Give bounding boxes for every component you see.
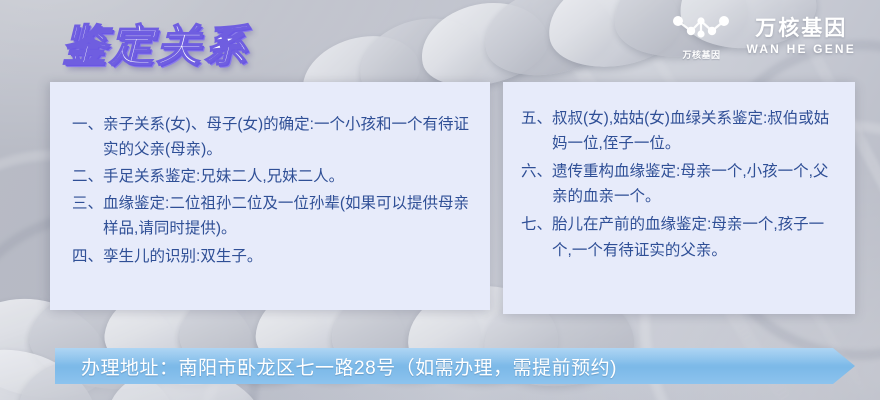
brand-name-block: 万核基因 WAN HE GENE xyxy=(746,18,856,56)
info-panel-left: 一、亲子关系(女)、母子(女)的确定:一个小孩和一个有待证实的父亲(母亲)。二、… xyxy=(50,82,490,310)
brand-name-en: WAN HE GENE xyxy=(746,43,856,56)
list-item-number: 六、 xyxy=(521,159,552,184)
list-item: 七、胎儿在产前的血缘鉴定:母亲一个,孩子一个,一个有待证实的父亲。 xyxy=(521,212,841,262)
list-item-text: 叔叔(女),姑姑(女)血绿关系鉴定:叔伯或姑妈一位,侄子一位。 xyxy=(552,106,841,156)
list-item: 一、亲子关系(女)、母子(女)的确定:一个小孩和一个有待证实的父亲(母亲)。 xyxy=(72,112,474,162)
list-item-number: 四、 xyxy=(72,244,103,269)
brand-logo: 万核基因 万核基因 WAN HE GENE xyxy=(670,12,856,61)
info-panel-right: 五、叔叔(女),姑姑(女)血绿关系鉴定:叔伯或姑妈一位,侄子一位。六、遗传重构血… xyxy=(503,82,855,314)
list-item: 三、血缘鉴定:二位祖孙二位及一位孙辈(如果可以提供母亲样品,请同时提供)。 xyxy=(72,191,474,241)
list-item-text: 遗传重构血缘鉴定:母亲一个,小孩一个,父亲的血亲一个。 xyxy=(552,159,841,209)
address-banner-text: 办理地址：南阳市卧龙区七一路28号（如需办理，需提前预约) xyxy=(55,353,617,380)
molecule-nodes-icon xyxy=(670,12,732,46)
list-item-text: 亲子关系(女)、母子(女)的确定:一个小孩和一个有待证实的父亲(母亲)。 xyxy=(103,112,474,162)
list-item-text: 血缘鉴定:二位祖孙二位及一位孙辈(如果可以提供母亲样品,请同时提供)。 xyxy=(103,191,474,241)
background-petal-u5 xyxy=(543,0,686,75)
address-banner: 办理地址：南阳市卧龙区七一路28号（如需办理，需提前预约) xyxy=(55,348,855,384)
list-item: 二、手足关系鉴定:兄妹二人,兄妹二人。 xyxy=(72,164,474,189)
list-item-text: 手足关系鉴定:兄妹二人,兄妹二人。 xyxy=(103,164,474,189)
list-item-number: 五、 xyxy=(521,106,552,131)
info-list-right: 五、叔叔(女),姑姑(女)血绿关系鉴定:叔伯或姑妈一位,侄子一位。六、遗传重构血… xyxy=(503,82,855,276)
brand-logo-mark-text: 万核基因 xyxy=(682,48,720,61)
list-item-number: 二、 xyxy=(72,164,103,189)
address-banner-body: 办理地址：南阳市卧龙区七一路28号（如需办理，需提前预约) xyxy=(55,348,855,384)
brand-logo-mark: 万核基因 xyxy=(670,12,732,61)
page-title: 鉴定关系 xyxy=(62,10,250,74)
list-item-text: 孪生儿的识别:双生子。 xyxy=(103,244,474,269)
poster-root: 鉴定关系 xyxy=(0,0,880,400)
info-list-left: 一、亲子关系(女)、母子(女)的确定:一个小孩和一个有待证实的父亲(母亲)。二、… xyxy=(50,82,490,281)
list-item: 五、叔叔(女),姑姑(女)血绿关系鉴定:叔伯或姑妈一位,侄子一位。 xyxy=(521,106,841,156)
list-item: 六、遗传重构血缘鉴定:母亲一个,小孩一个,父亲的血亲一个。 xyxy=(521,159,841,209)
list-item-number: 三、 xyxy=(72,191,103,216)
brand-name-cn: 万核基因 xyxy=(755,18,847,40)
list-item-number: 七、 xyxy=(521,212,552,237)
list-item-number: 一、 xyxy=(72,112,103,137)
list-item: 四、孪生儿的识别:双生子。 xyxy=(72,244,474,269)
background-petal-u4 xyxy=(478,0,621,85)
list-item-text: 胎儿在产前的血缘鉴定:母亲一个,孩子一个,一个有待证实的父亲。 xyxy=(552,212,841,262)
